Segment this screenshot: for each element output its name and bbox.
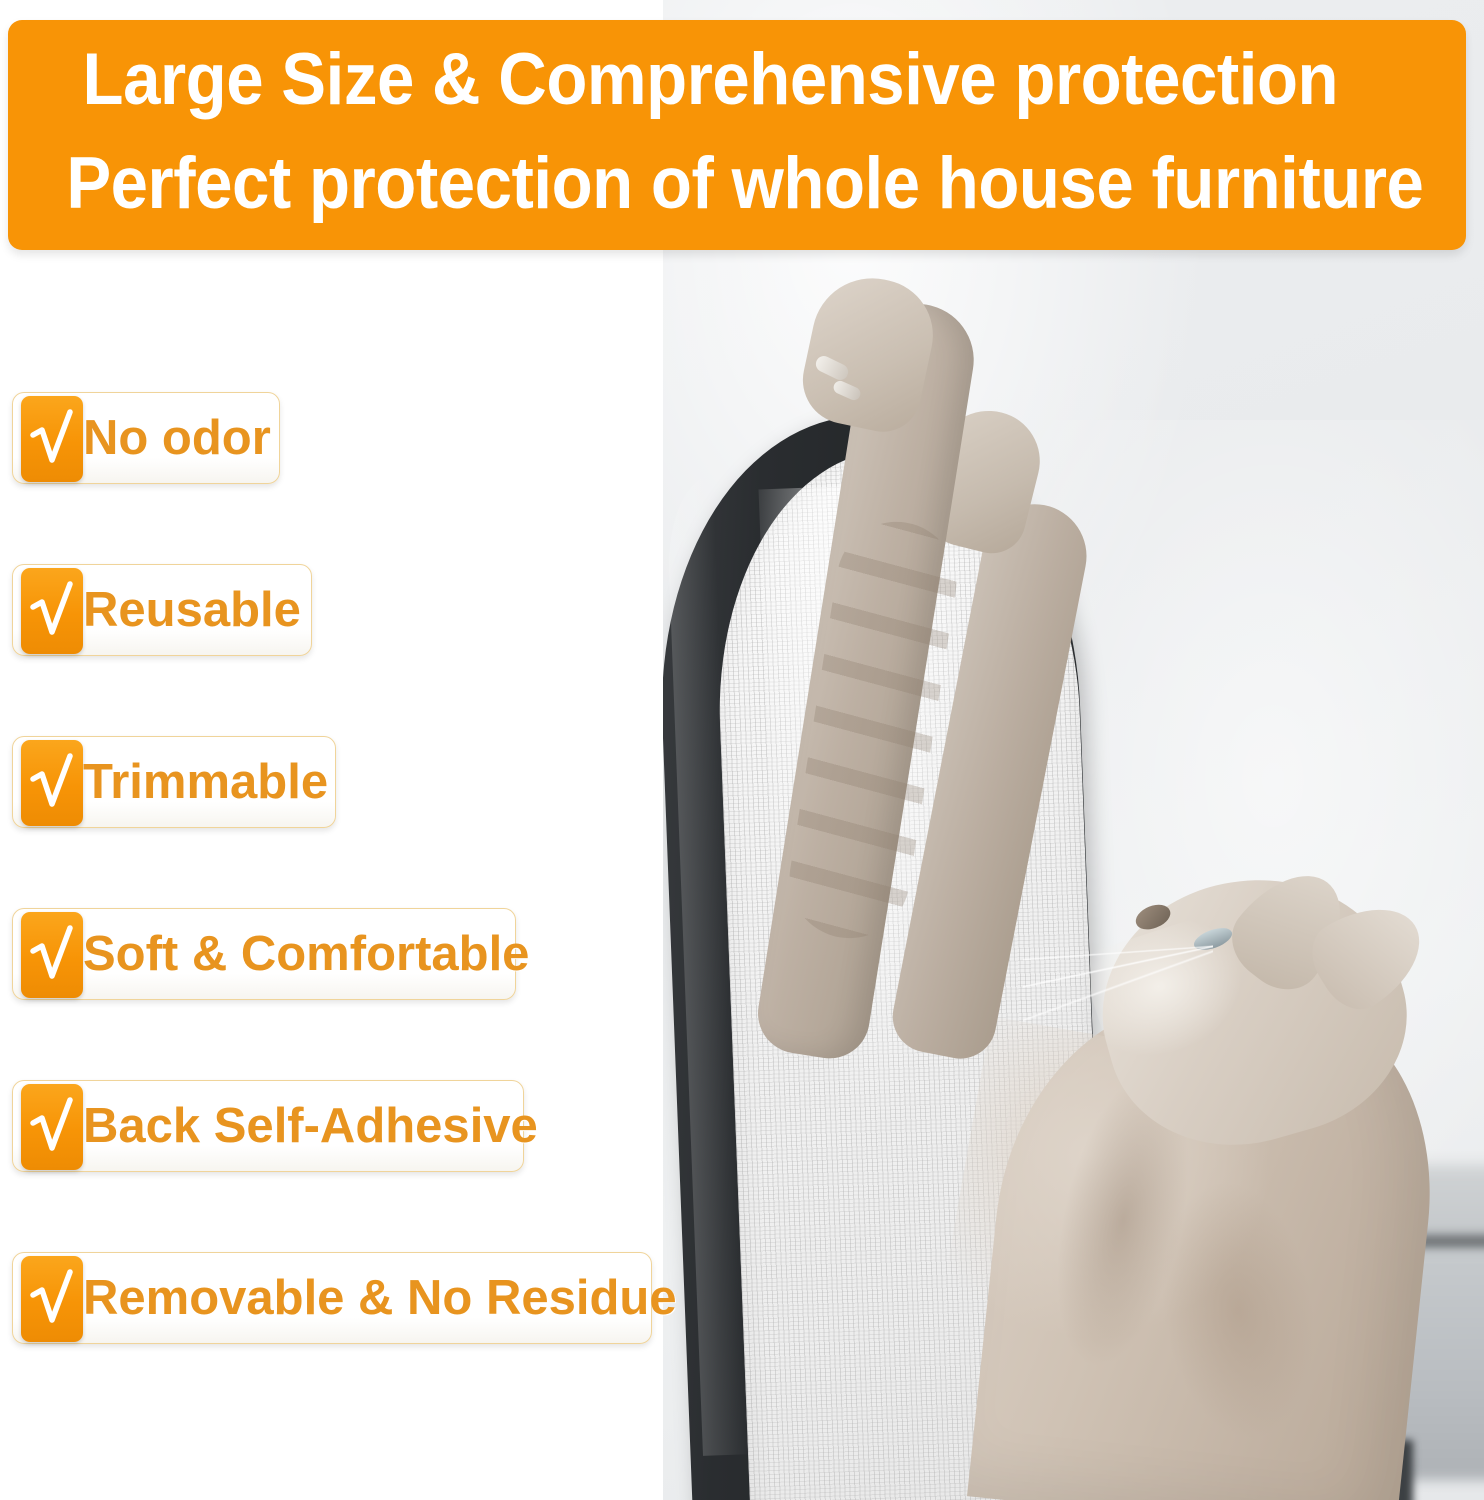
product-feature-image: Large Size & Comprehensive protection Pe… bbox=[0, 0, 1484, 1500]
feature-label: No odor bbox=[13, 410, 301, 466]
feature-badge-reusable: Reusable bbox=[12, 564, 312, 656]
feature-label: Trimmable bbox=[13, 754, 358, 810]
feature-label: Removable & No Residue bbox=[13, 1270, 707, 1326]
feature-list: No odor Reusable Trimmable bbox=[12, 392, 672, 1424]
feature-badge-trimmable: Trimmable bbox=[12, 736, 336, 828]
cat-whiskers bbox=[1023, 905, 1213, 1025]
headline-line-1: Large Size & Comprehensive protection bbox=[66, 28, 1407, 132]
feature-badge-no-odor: No odor bbox=[12, 392, 280, 484]
headline-line-2: Perfect protection of whole house furnit… bbox=[66, 132, 1407, 236]
headline-banner: Large Size & Comprehensive protection Pe… bbox=[8, 20, 1466, 250]
feature-label: Back Self-Adhesive bbox=[13, 1098, 568, 1154]
feature-label: Soft & Comfortable bbox=[13, 926, 559, 982]
feature-badge-back-self-adhesive: Back Self-Adhesive bbox=[12, 1080, 524, 1172]
feature-label: Reusable bbox=[13, 582, 331, 638]
feature-badge-soft-comfortable: Soft & Comfortable bbox=[12, 908, 516, 1000]
feature-badge-removable-no-residue: Removable & No Residue bbox=[12, 1252, 652, 1344]
